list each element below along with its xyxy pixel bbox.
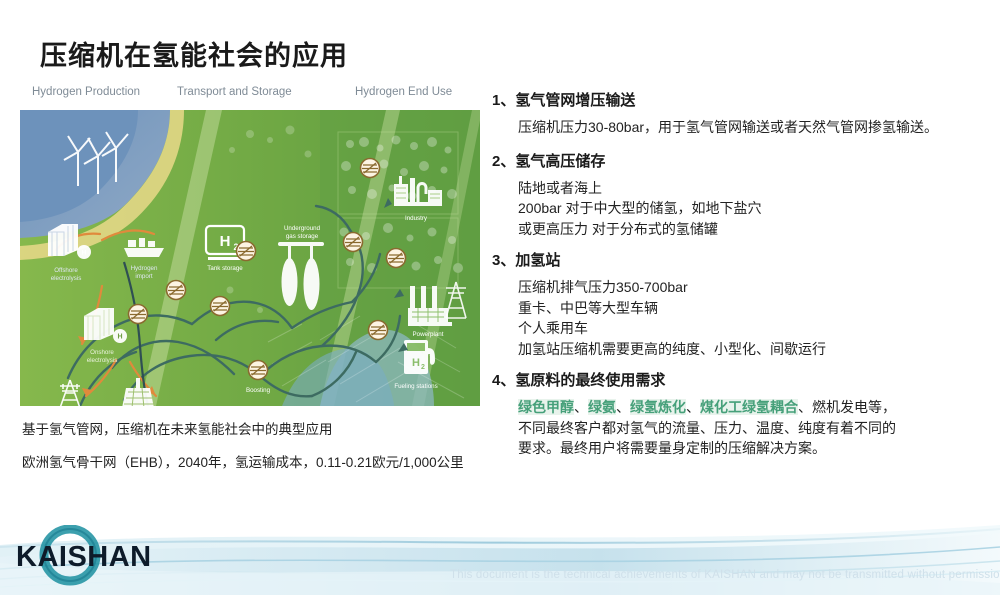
section-2-line-3: 或更高压力 对于分布式的氢储罐 (518, 219, 982, 240)
section-4-highlight-line: 绿色甲醇、绿氨、绿氢炼化、煤化工绿氢耦合、燃机发电等， (518, 397, 982, 418)
svg-text:H: H (82, 250, 87, 257)
column-label-enduse: Hydrogen End Use (355, 86, 452, 98)
section-2-body: 陆地或者海上 200bar 对于中大型的储氢，如地下盐穴 或更高压力 对于分布式… (492, 175, 982, 247)
section-2-line-1: 陆地或者海上 (518, 178, 982, 199)
section-4: 4、氢原料的最终使用需求 绿色甲醇、绿氨、绿氢炼化、煤化工绿氢耦合、燃机发电等，… (492, 368, 982, 466)
highlight-green-methanol: 绿色甲醇 (518, 399, 574, 415)
section-4-line-2: 不同最终客户都对氢气的流量、压力、温度、纯度有着不同的 (518, 418, 982, 439)
map-label-fueling-stations: Fueling stations (394, 383, 437, 390)
section-1-heading: 1、氢气管网增压输送 (492, 88, 982, 114)
section-4-body: 绿色甲醇、绿氨、绿氢炼化、煤化工绿氢耦合、燃机发电等， 不同最终客户都对氢气的流… (492, 394, 982, 466)
map-label-offshore-electrolysis: Offshore (54, 267, 78, 274)
section-4-tail: 、燃机发电等， (798, 399, 896, 415)
svg-text:electrolysis: electrolysis (51, 275, 82, 282)
svg-text:gas storage: gas storage (286, 233, 319, 240)
highlight-coal-chemical-coupling: 煤化工绿氢耦合 (700, 399, 798, 415)
column-label-production: Hydrogen Production (32, 86, 140, 98)
section-3-line-3: 个人乘用车 (518, 318, 982, 339)
column-label-transport: Transport and Storage (177, 86, 292, 98)
section-3-line-4: 加氢站压缩机需要更高的纯度、小型化、间歇运行 (518, 339, 982, 360)
diagram-caption-primary: 基于氢气管网，压缩机在未来氢能社会中的典型应用 (22, 418, 333, 438)
diagram-canvas: H Offshore electrolysis Hydrogen import (20, 110, 480, 406)
page-title: 压缩机在氢能社会的应用 (40, 34, 348, 73)
section-3-body: 压缩机排气压力350-700bar 重卡、中巴等大型车辆 个人乘用车 加氢站压缩… (492, 274, 982, 366)
section-2: 2、氢气高压储存 陆地或者海上 200bar 对于中大型的储氢，如地下盐穴 或更… (492, 149, 982, 247)
diagram-column-labels: Hydrogen Production Transport and Storag… (20, 86, 480, 110)
hydrogen-society-diagram: Hydrogen Production Transport and Storag… (20, 86, 480, 406)
logo-wordmark: KAISHAN (16, 541, 152, 573)
svg-text:H: H (117, 334, 122, 341)
section-4-heading: 4、氢原料的最终使用需求 (492, 368, 982, 394)
section-4-line-3: 要求。最终用户将需要量身定制的压缩解决方案。 (518, 438, 982, 459)
slide-root: 压缩机在氢能社会的应用 Hydrogen Production Transpor… (0, 0, 1000, 595)
map-label-boosting: Boosting (246, 387, 271, 394)
diagram-caption-secondary: 欧洲氢气骨干网（EHB），2040年，氢运输成本，0.11-0.21欧元/1,0… (22, 452, 477, 473)
svg-text:H: H (220, 233, 231, 250)
section-3-line-1: 压缩机排气压力350-700bar (518, 277, 982, 298)
highlight-green-hydrogen-refining: 绿氢炼化 (630, 399, 686, 415)
separator-3: 、 (686, 399, 700, 415)
section-3-heading: 3、加氢站 (492, 248, 982, 274)
svg-text:import: import (135, 273, 152, 280)
separator-1: 、 (574, 399, 588, 415)
map-label-hydrogen-import: Hydrogen (131, 265, 158, 272)
map-label-tank-storage: Tank storage (207, 265, 243, 272)
map-label-industry: Industry (405, 215, 428, 222)
map-label-onshore-electrolysis: Onshore (90, 349, 114, 356)
highlight-green-ammonia: 绿氨 (588, 399, 616, 415)
map-label-powerplant: Powerplant (413, 331, 444, 338)
footer-watermark: This document is the technical achieveme… (450, 569, 1000, 581)
section-3-line-2: 重卡、中巴等大型车辆 (518, 298, 982, 319)
separator-2: 、 (616, 399, 630, 415)
svg-text:H: H (412, 357, 420, 369)
section-1-body: 压缩机压力30-80bar，用于氢气管网输送或者天然气管网掺氢输送。 (492, 114, 982, 147)
content-list: 1、氢气管网增压输送 压缩机压力30-80bar，用于氢气管网输送或者天然气管网… (492, 88, 982, 468)
map-label-underground-gas-storage: Underground (284, 225, 321, 232)
section-2-heading: 2、氢气高压储存 (492, 149, 982, 175)
kaishan-logo: KAISHAN (8, 525, 208, 587)
section-2-line-2: 200bar 对于中大型的储氢，如地下盐穴 (518, 198, 982, 219)
compressor-node-boosting (249, 361, 268, 380)
section-1: 1、氢气管网增压输送 压缩机压力30-80bar，用于氢气管网输送或者天然气管网… (492, 88, 982, 147)
section-3: 3、加氢站 压缩机排气压力350-700bar 重卡、中巴等大型车辆 个人乘用车… (492, 248, 982, 366)
svg-text:electrolysis: electrolysis (87, 357, 118, 364)
svg-text:2: 2 (421, 364, 425, 371)
